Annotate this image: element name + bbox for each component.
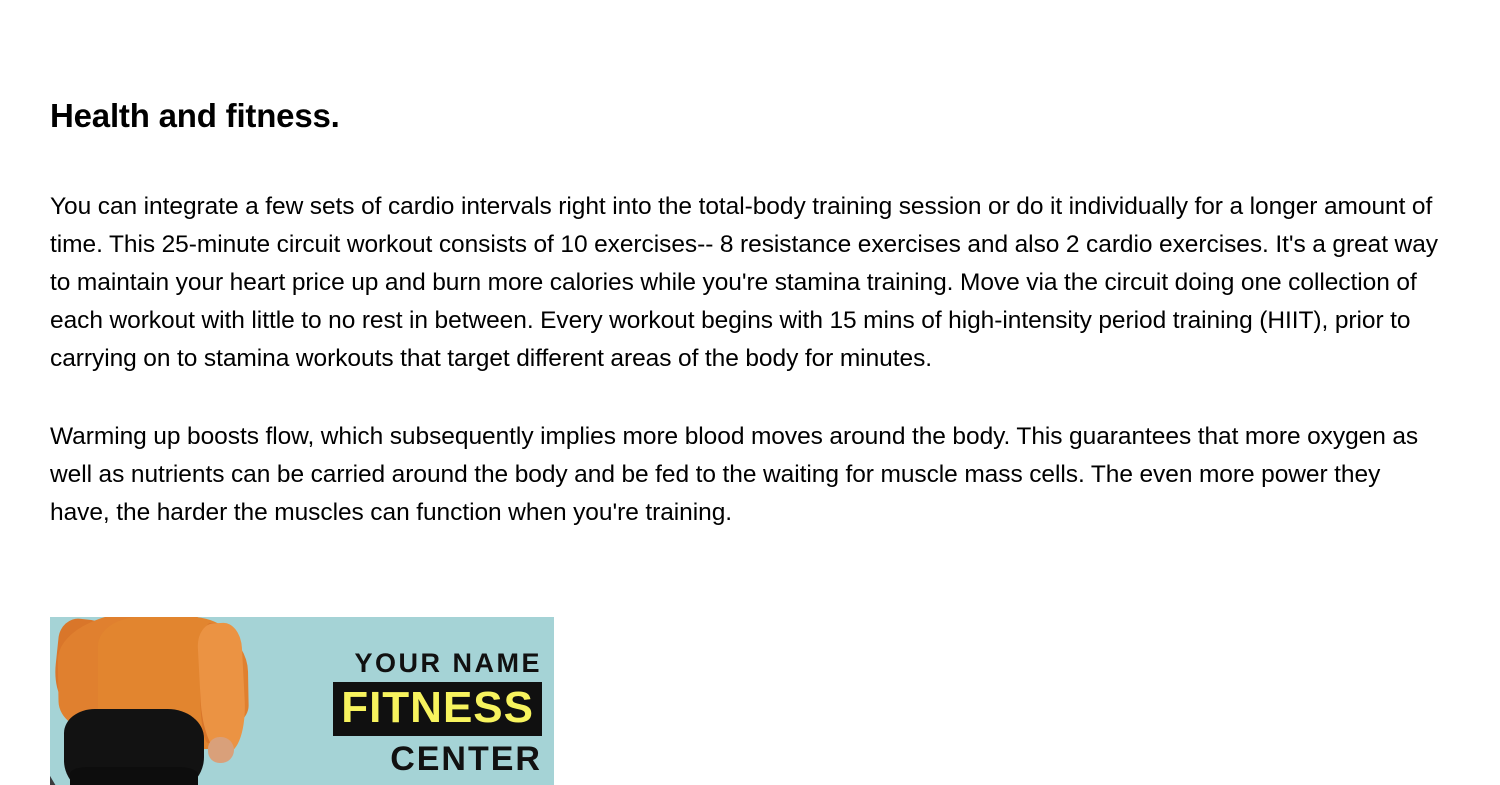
banner-line-your-name: YOUR NAME [256,649,542,677]
body-paragraph-2: Warming up boosts flow, which subsequent… [50,418,1440,532]
banner-line-center: CENTER [256,741,542,778]
document-content: Health and fitness. You can integrate a … [50,0,1440,532]
banner-canvas: YOUR NAME FITNESS CENTER [50,617,554,785]
banner-line-fitness: FITNESS [341,686,534,730]
page-title: Health and fitness. [50,0,1440,136]
document-page: Health and fitness. You can integrate a … [0,0,1500,785]
runner-shorts-shading [70,767,198,785]
fitness-center-banner-image: YOUR NAME FITNESS CENTER [50,617,554,785]
body-paragraph-1: You can integrate a few sets of cardio i… [50,188,1440,378]
runner-right-hand [208,737,234,763]
banner-text-block: YOUR NAME FITNESS CENTER [256,649,542,779]
banner-fitness-highlight: FITNESS [333,682,542,736]
